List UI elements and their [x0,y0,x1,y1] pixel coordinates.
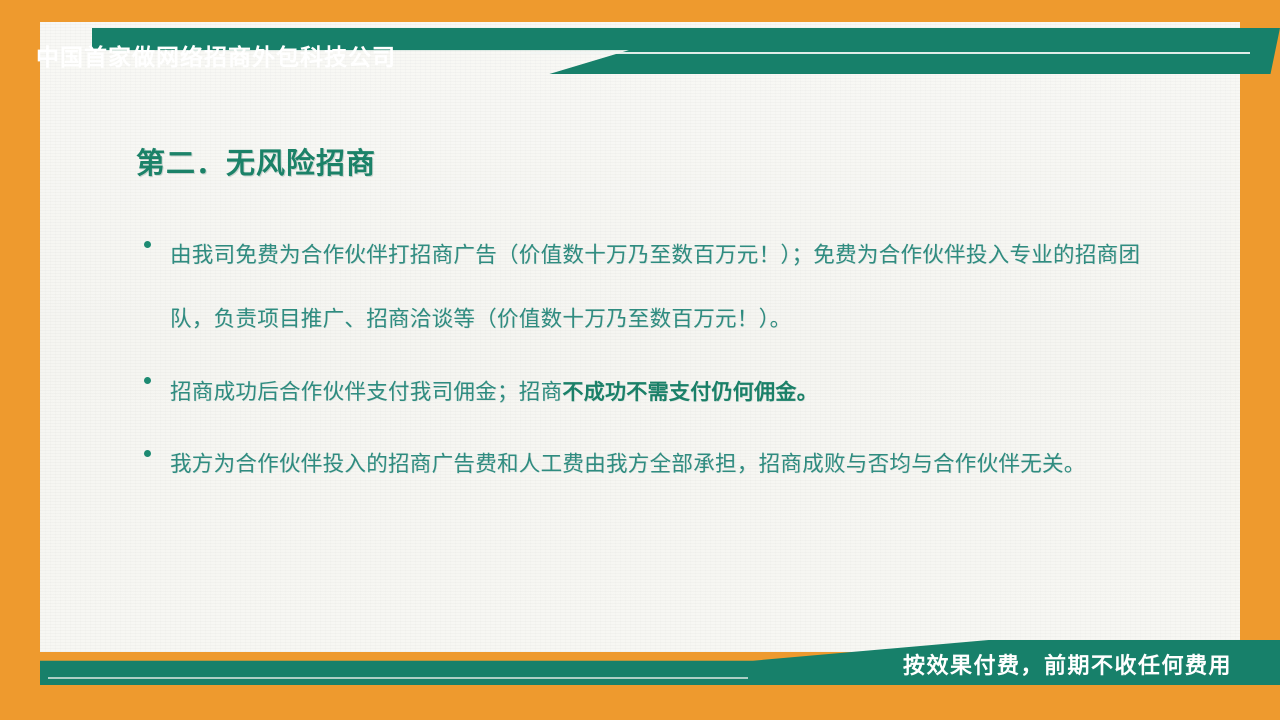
list-item-text: 我方为合作伙伴投入的招商广告费和人工费由我方全部承担，招商成败与否均与合作伙伴无… [170,452,1086,477]
list-item-text: 招商成功后合作伙伴支付我司佣金；招商不成功不需支付仍何佣金。 [170,380,818,405]
list-item: 由我司免费为合作伙伴打招商广告（价值数十万乃至数百万元！）；免费为合作伙伴投入专… [140,224,1175,352]
round-bullet-icon [144,241,151,248]
header-divider-line [530,52,1250,54]
list-item: 我方为合作伙伴投入的招商广告费和人工费由我方全部承担，招商成败与否均与合作伙伴无… [140,433,1175,497]
list-item-text: 由我司免费为合作伙伴打招商广告（价值数十万乃至数百万元！）；免费为合作伙伴投入专… [170,243,1140,332]
bullet-list: 由我司免费为合作伙伴打招商广告（价值数十万乃至数百万元！）；免费为合作伙伴投入专… [140,224,1175,505]
footer-divider-line [48,677,748,679]
page-title: 第二．无风险招商 [136,140,376,182]
header-title: 中国首家做网络招商外包科技公司 [36,38,396,72]
text-segment: 招商成功后合作伙伴支付我司佣金；招商 [170,380,562,405]
text-segment: 我方为合作伙伴投入的招商广告费和人工费由我方全部承担，招商成败与否均与合作伙伴无… [170,452,1086,477]
text-segment-emphasis: 不成功不需支付仍何佣金。 [562,380,818,404]
presentation-slide: 中国首家做网络招商外包科技公司 第二．无风险招商 由我司免费为合作伙伴打招商广告… [0,0,1280,720]
footer-tagline: 按效果付费，前期不收任何费用 [903,648,1232,680]
round-bullet-icon [144,450,151,457]
list-item: 招商成功后合作伙伴支付我司佣金；招商不成功不需支付仍何佣金。 [140,360,1175,425]
text-segment: 由我司免费为合作伙伴打招商广告（价值数十万乃至数百万元！）；免费为合作伙伴投入专… [170,243,1140,332]
round-bullet-icon [144,377,151,384]
